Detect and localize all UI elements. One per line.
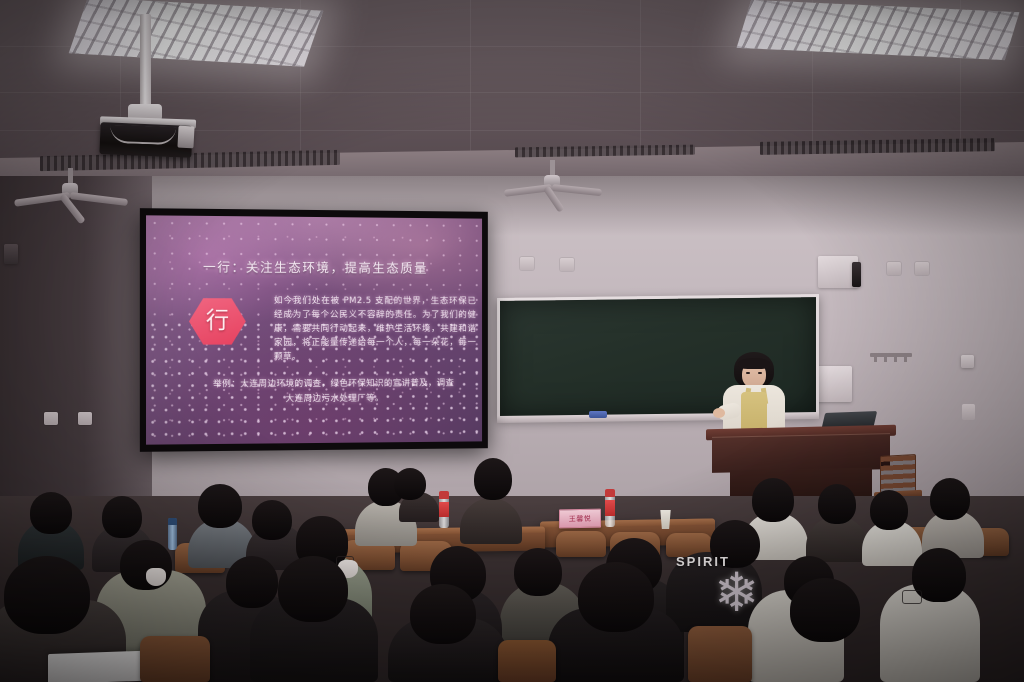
wall-outlet[interactable] bbox=[44, 412, 58, 425]
face-mask bbox=[146, 568, 166, 586]
wall-outlet[interactable] bbox=[887, 262, 901, 275]
student-head bbox=[278, 556, 348, 622]
ceiling-fan bbox=[500, 160, 604, 200]
slide-title: 一行：关注生态环境，提高生态质量 bbox=[146, 256, 482, 277]
chalkboard-eraser[interactable] bbox=[589, 411, 607, 418]
slide-badge-character: 行 bbox=[206, 310, 229, 333]
name-placard-text: 王馨悦 bbox=[569, 513, 592, 523]
student-head bbox=[930, 478, 970, 520]
left-wall bbox=[0, 176, 152, 506]
wall-mounted-sensor bbox=[852, 262, 861, 287]
student-head bbox=[514, 548, 562, 596]
projection-screen: 一行：关注生态环境，提高生态质量 行 如今我们处在被 PM2.5 支配的世界，生… bbox=[140, 208, 488, 452]
auditorium-seat[interactable] bbox=[556, 531, 606, 557]
student-head bbox=[394, 468, 426, 500]
presenter-eye bbox=[758, 372, 762, 374]
student-head bbox=[102, 496, 142, 538]
projector-mount-pole bbox=[140, 14, 151, 110]
student-head bbox=[790, 578, 860, 642]
student-head bbox=[120, 540, 172, 590]
water-bottle[interactable] bbox=[605, 489, 615, 527]
presenter-bangs bbox=[738, 358, 770, 369]
student-head bbox=[870, 490, 908, 530]
wall-plate bbox=[961, 355, 974, 368]
student-head bbox=[818, 484, 856, 524]
wall-outlet[interactable] bbox=[915, 262, 929, 275]
presentation-slide: 一行：关注生态环境，提高生态质量 行 如今我们处在被 PM2.5 支配的世界，生… bbox=[146, 215, 482, 444]
wall-outlet[interactable] bbox=[520, 257, 534, 270]
projector-lens bbox=[177, 126, 194, 149]
student-head bbox=[474, 458, 512, 500]
water-bottle[interactable] bbox=[439, 491, 449, 528]
lecture-hall-photo: 一行：关注生态环境，提高生态质量 行 如今我们处在被 PM2.5 支配的世界，生… bbox=[0, 0, 1024, 682]
ceiling-projector bbox=[88, 14, 218, 164]
auditorium-seat[interactable] bbox=[498, 640, 556, 682]
wall-plate bbox=[4, 244, 18, 264]
auditorium-seat[interactable] bbox=[140, 636, 210, 682]
coat-hook-rail bbox=[870, 353, 912, 357]
eyeglasses bbox=[902, 590, 922, 604]
student-head bbox=[4, 556, 90, 634]
student-head bbox=[410, 584, 476, 644]
slide-example-text: 举例：大连周边环境的调查，绿色环保知识的宣讲普及，调查大连周边污水处理厂等。 bbox=[209, 376, 457, 407]
water-bottle[interactable] bbox=[168, 518, 177, 550]
student-head bbox=[752, 478, 794, 522]
ceiling-fan bbox=[10, 168, 130, 214]
student-head bbox=[252, 500, 292, 540]
wall-outlet[interactable] bbox=[78, 412, 92, 425]
light-switch[interactable] bbox=[962, 404, 975, 420]
student-head bbox=[30, 492, 72, 534]
slide-body-text: 如今我们处在被 PM2.5 支配的世界，生态环保已经成为了每个公民义不容辞的责任… bbox=[274, 295, 476, 365]
auditorium-seat[interactable] bbox=[688, 626, 752, 682]
student-head bbox=[198, 484, 242, 528]
name-placard: 王馨悦 bbox=[559, 509, 601, 529]
student-head bbox=[578, 562, 654, 632]
presenter-hand bbox=[713, 408, 725, 418]
podium bbox=[706, 427, 896, 502]
presenter-eye bbox=[746, 372, 750, 374]
student-head bbox=[226, 556, 278, 608]
wall-outlet[interactable] bbox=[560, 258, 574, 271]
